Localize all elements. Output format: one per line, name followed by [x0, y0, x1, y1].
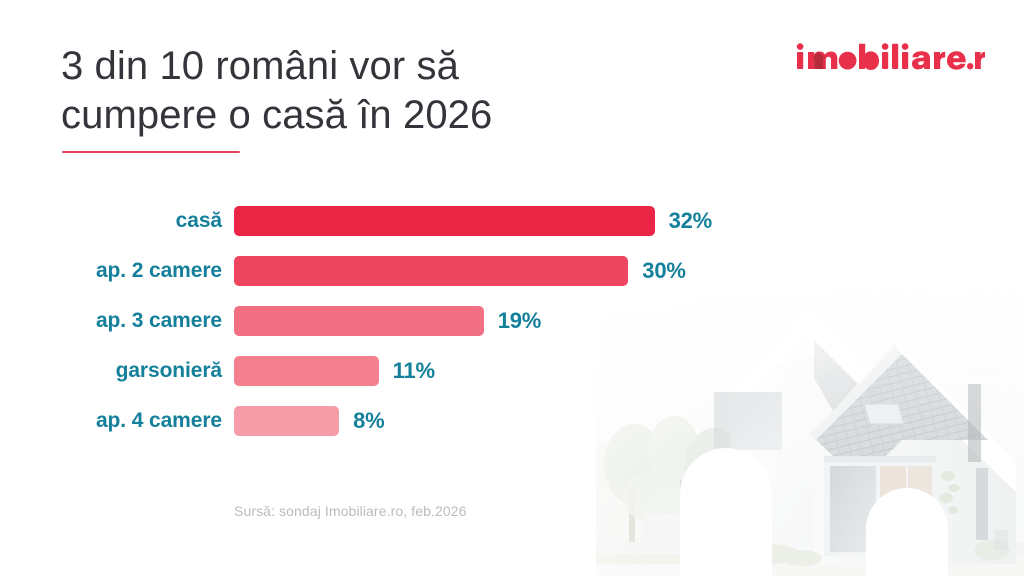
chart-row-inner: ap. 3 camere19% [0, 296, 800, 346]
bar-category-label: ap. 4 camere [0, 409, 222, 433]
bar-cas- [234, 206, 655, 236]
bar-value-label: 32% [669, 208, 712, 234]
bar-category-label: ap. 3 camere [0, 309, 222, 333]
source-note: Sursă: sondaj Imobiliare.ro, feb.2026 [234, 503, 467, 519]
chart-row: garsonieră11% [0, 346, 800, 396]
chart-row-inner: ap. 4 camere8% [0, 396, 800, 446]
bar-track: 19% [222, 306, 800, 336]
chart-row: ap. 4 camere8% [0, 396, 800, 446]
arch-overlay-right [866, 488, 948, 576]
imobiliare-logo[interactable] [795, 42, 985, 74]
bar-track: 32% [222, 206, 800, 236]
bar-value-label: 19% [498, 308, 541, 334]
bar-ap-2-camere [234, 256, 628, 286]
chart-row-inner: garsonieră11% [0, 346, 800, 396]
bar-track: 11% [222, 356, 800, 386]
bar-category-label: ap. 2 camere [0, 259, 222, 283]
bar-value-label: 8% [353, 408, 384, 434]
chart-row-inner: ap. 2 camere30% [0, 246, 800, 296]
bar-category-label: casă [0, 209, 222, 233]
page-title: 3 din 10 români vor să cumpere o casă în… [61, 42, 681, 140]
chart-row-inner: casă32% [0, 196, 800, 246]
bar-category-label: garsonieră [0, 359, 222, 383]
chart-row: casă32% [0, 196, 800, 246]
bar-value-label: 11% [393, 358, 435, 384]
infographic-canvas: 3 din 10 români vor să cumpere o casă în… [0, 0, 1024, 576]
bar-track: 8% [222, 406, 800, 436]
bar-garsonier- [234, 356, 379, 386]
arch-overlay-left [680, 448, 772, 576]
bar-track: 30% [222, 256, 800, 286]
chart-row: ap. 2 camere30% [0, 246, 800, 296]
title-line-1: 3 din 10 români vor să [61, 42, 681, 91]
bar-ap-4-camere [234, 406, 339, 436]
bar-value-label: 30% [642, 258, 685, 284]
bar-ap-3-camere [234, 306, 484, 336]
title-underline [62, 151, 240, 153]
chart-row: ap. 3 camere19% [0, 296, 800, 346]
bar-chart: casă32%ap. 2 camere30%ap. 3 camere19%gar… [0, 196, 800, 446]
title-line-2: cumpere o casă în 2026 [61, 91, 681, 140]
